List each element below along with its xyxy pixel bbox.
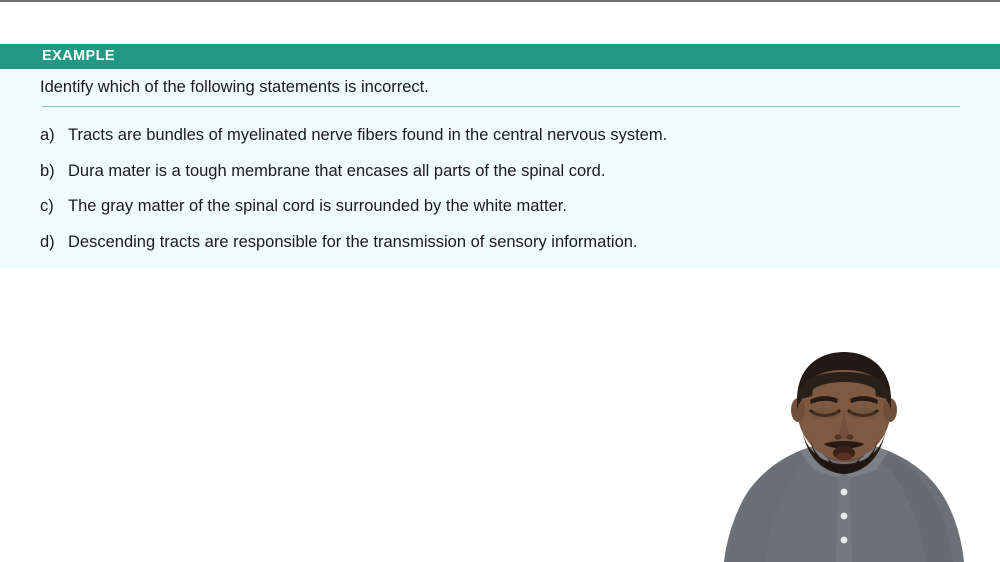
answer-option-a-text: Tracts are bundles of myelinated nerve f… — [68, 124, 667, 146]
answer-option-d-letter: d) — [40, 231, 68, 253]
answer-option-a-letter: a) — [40, 124, 68, 146]
answer-option-d-text: Descending tracts are responsible for th… — [68, 231, 638, 253]
answer-option-c-letter: c) — [40, 195, 68, 217]
answer-option-d[interactable]: d) Descending tracts are responsible for… — [40, 231, 970, 267]
example-banner: EXAMPLE — [0, 44, 1000, 69]
answer-options-list: a) Tracts are bundles of myelinated nerv… — [40, 124, 970, 266]
answer-option-b-text: Dura mater is a tough membrane that enca… — [68, 160, 605, 182]
example-panel: EXAMPLE Identify which of the following … — [0, 44, 1000, 268]
answer-option-c[interactable]: c) The gray matter of the spinal cord is… — [40, 195, 970, 231]
prompt-divider — [42, 106, 960, 107]
shirt-button — [841, 489, 848, 496]
answer-option-b-letter: b) — [40, 160, 68, 182]
answer-option-c-text: The gray matter of the spinal cord is su… — [68, 195, 567, 217]
question-prompt: Identify which of the following statemen… — [40, 76, 429, 98]
presenter-video-overlay — [688, 352, 1000, 562]
answer-option-b[interactable]: b) Dura mater is a tough membrane that e… — [40, 160, 970, 196]
shirt-button — [841, 537, 848, 544]
example-banner-label: EXAMPLE — [42, 48, 115, 65]
answer-option-a[interactable]: a) Tracts are bundles of myelinated nerv… — [40, 124, 970, 160]
shirt-button — [841, 513, 848, 520]
presenter-figure — [688, 352, 1000, 562]
top-frame-rule — [0, 0, 1000, 2]
